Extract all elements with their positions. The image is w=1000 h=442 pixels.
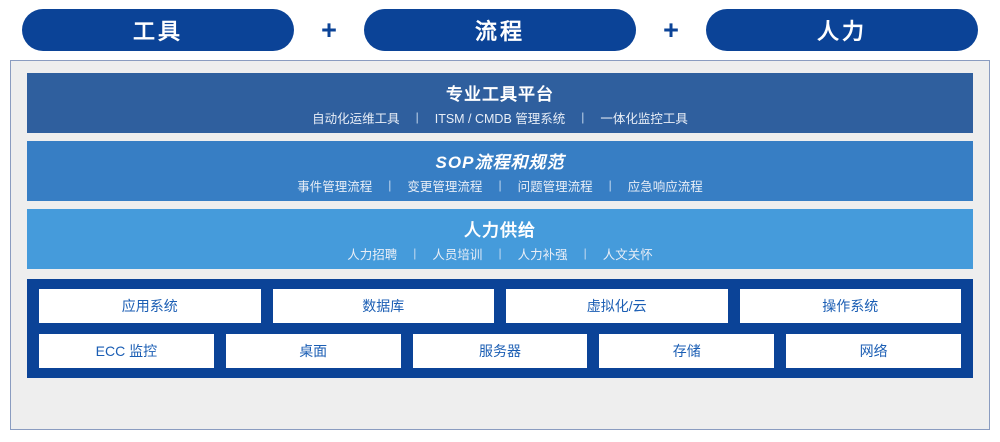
pill-tools[interactable]: 工具: [22, 9, 294, 51]
pill-process[interactable]: 流程: [364, 9, 636, 51]
layer-band-manpower-supply: 人力供给 人力招聘 | 人员培训 | 人力补强 | 人文关怀: [27, 209, 973, 269]
infrastructure-box-label: 桌面: [299, 341, 327, 361]
infrastructure-box[interactable]: 服务器: [413, 334, 588, 368]
layer-item: 人文关怀: [587, 244, 669, 263]
item-separator: |: [584, 246, 587, 260]
layer-item: 变更管理流程: [391, 176, 498, 195]
plus-icon: +: [294, 17, 364, 44]
infrastructure-box-label: 应用系统: [122, 296, 178, 316]
layer-item: 事件管理流程: [281, 176, 388, 195]
layer-item: 人力补强: [502, 244, 584, 263]
item-separator: |: [609, 178, 612, 192]
layer-items: 事件管理流程 | 变更管理流程 | 问题管理流程 | 应急响应流程: [281, 176, 718, 195]
infrastructure-box-label: 数据库: [362, 296, 404, 316]
infrastructure-row-1: 应用系统 数据库 虚拟化/云 操作系统: [39, 289, 961, 323]
pill-process-label: 流程: [475, 14, 525, 46]
layer-title: 专业工具平台: [446, 80, 554, 105]
layer-item: 问题管理流程: [502, 176, 609, 195]
item-separator: |: [416, 110, 419, 124]
layer-item: 自动化运维工具: [296, 108, 416, 127]
pill-manpower[interactable]: 人力: [706, 9, 978, 51]
item-separator: |: [498, 246, 501, 260]
capability-pill-row: 工具 + 流程 + 人力: [0, 0, 1000, 60]
infrastructure-row-2: ECC 监控 桌面 服务器 存储 网络: [39, 334, 961, 368]
infrastructure-box-label: 服务器: [479, 341, 521, 361]
infrastructure-box[interactable]: 应用系统: [39, 289, 261, 323]
layer-item: ITSM / CMDB 管理系统: [419, 108, 582, 127]
infrastructure-box[interactable]: ECC 监控: [39, 334, 214, 368]
infrastructure-box-label: 网络: [860, 341, 888, 361]
infrastructure-box[interactable]: 操作系统: [740, 289, 962, 323]
infrastructure-box-label: 存储: [673, 341, 701, 361]
infrastructure-box-label: 操作系统: [822, 296, 878, 316]
layer-item: 人力招聘: [331, 244, 413, 263]
pill-tools-label: 工具: [133, 14, 183, 46]
item-separator: |: [388, 178, 391, 192]
infrastructure-box[interactable]: 数据库: [273, 289, 495, 323]
infrastructure-box[interactable]: 存储: [599, 334, 774, 368]
architecture-frame: 专业工具平台 自动化运维工具 | ITSM / CMDB 管理系统 | 一体化监…: [10, 60, 990, 430]
layer-title: SOP流程和规范: [436, 148, 565, 173]
layer-band-sop-process: SOP流程和规范 事件管理流程 | 变更管理流程 | 问题管理流程 | 应急响应…: [27, 141, 973, 201]
item-separator: |: [413, 246, 416, 260]
layer-title: 人力供给: [464, 216, 536, 241]
infrastructure-box[interactable]: 虚拟化/云: [506, 289, 728, 323]
layer-item: 一体化监控工具: [584, 108, 704, 127]
item-separator: |: [581, 110, 584, 124]
layer-band-tool-platform: 专业工具平台 自动化运维工具 | ITSM / CMDB 管理系统 | 一体化监…: [27, 73, 973, 133]
infrastructure-box[interactable]: 桌面: [226, 334, 401, 368]
infrastructure-box-label: 虚拟化/云: [587, 296, 647, 316]
layer-item: 应急响应流程: [612, 176, 719, 195]
item-separator: |: [498, 178, 501, 192]
infrastructure-box-label: ECC 监控: [96, 341, 157, 361]
layer-items: 人力招聘 | 人员培训 | 人力补强 | 人文关怀: [331, 244, 668, 263]
infrastructure-box[interactable]: 网络: [786, 334, 961, 368]
infrastructure-panel: 应用系统 数据库 虚拟化/云 操作系统 ECC 监控 桌面 服务器 存储: [27, 279, 973, 378]
plus-icon: +: [636, 17, 706, 44]
layer-item: 人员培训: [416, 244, 498, 263]
pill-manpower-label: 人力: [817, 14, 867, 46]
layer-items: 自动化运维工具 | ITSM / CMDB 管理系统 | 一体化监控工具: [296, 108, 704, 127]
